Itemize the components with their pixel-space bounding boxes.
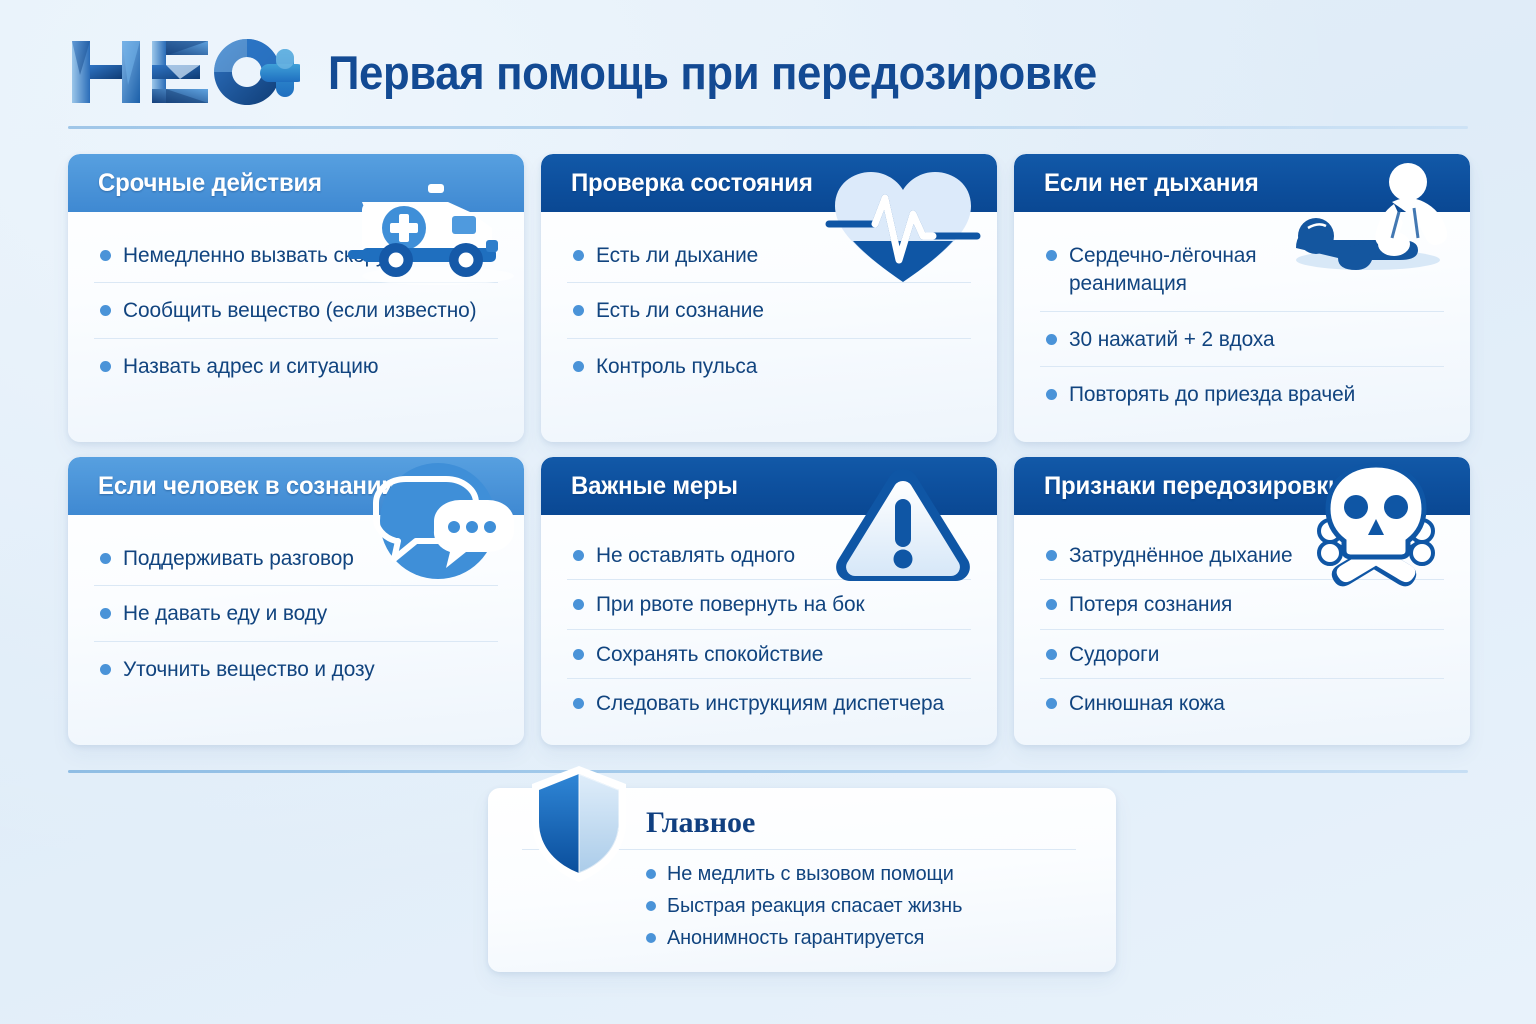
- list-item-text: Назвать адрес и ситуацию: [123, 352, 378, 380]
- bullet-dot-icon: [646, 933, 656, 943]
- list-item: Потеря сознания: [1040, 580, 1444, 629]
- list-item-text: Следовать инструкциям диспетчера: [596, 689, 944, 717]
- bullet-dot-icon: [573, 361, 584, 372]
- bullet-dot-icon: [100, 250, 111, 261]
- card-title: Проверка состояния: [571, 169, 813, 198]
- list-item: Контроль пульса: [567, 339, 971, 393]
- card-title: Важные меры: [571, 472, 738, 501]
- bullet-dot-icon: [1046, 250, 1057, 261]
- bottom-divider: [68, 770, 1468, 773]
- list-item: Не давать еду и воду: [94, 586, 498, 641]
- list-item-text: Уточнить вещество и дозу: [123, 655, 375, 683]
- card-no-breathing: Если нет дыхания: [1014, 154, 1470, 442]
- cards-grid: Срочные действия: [68, 154, 1470, 745]
- list-item: Повторять до приезда врачей: [1040, 367, 1444, 421]
- bullet-dot-icon: [1046, 649, 1057, 660]
- card-body: Не оставлять одного При рвоте повернуть …: [541, 515, 997, 738]
- bullet-dot-icon: [100, 608, 111, 619]
- card-header: Проверка состояния: [541, 154, 997, 212]
- list-item-text: Поддерживать разговор: [123, 544, 354, 572]
- list-item-text: 30 нажатий + 2 вдоха: [1069, 325, 1274, 353]
- list-item: Назвать адрес и ситуацию: [94, 339, 498, 393]
- list-item: Анонимность гарантируется: [646, 922, 1076, 954]
- card-header: Если нет дыхания: [1014, 154, 1470, 212]
- list-item: Затруднённое дыхание: [1040, 531, 1444, 580]
- bullet-dot-icon: [646, 901, 656, 911]
- list-item: Сохранять спокойствие: [567, 630, 971, 679]
- list-item-text: Судороги: [1069, 640, 1159, 668]
- list-item: 30 нажатий + 2 вдоха: [1040, 312, 1444, 367]
- list-item-text: Потеря сознания: [1069, 590, 1232, 618]
- bullet-dot-icon: [646, 869, 656, 879]
- list-item: При рвоте повернуть на бок: [567, 580, 971, 629]
- page-header: Первая помощь при передозировке: [68, 26, 1468, 118]
- summary-list: Не медлить с вызовом помощи Быстрая реак…: [638, 858, 1076, 954]
- list-item-text: Есть ли сознание: [596, 296, 764, 324]
- card-title: Признаки передозировки: [1044, 472, 1343, 501]
- list-item-text: Сообщить вещество (если известно): [123, 296, 476, 324]
- bullet-dot-icon: [100, 664, 111, 675]
- list-item: Следовать инструкциям диспетчера: [567, 679, 971, 727]
- card-title: Срочные действия: [98, 169, 322, 198]
- list-item-text: Сердечно-лёгочная реанимация: [1069, 241, 1312, 298]
- list-item-text: Есть ли дыхание: [596, 241, 758, 269]
- bullet-dot-icon: [573, 599, 584, 610]
- card-body: Сердечно-лёгочная реанимация 30 нажатий …: [1014, 212, 1470, 432]
- card-header: Если человек в сознании: [68, 457, 524, 515]
- neo-plus-logo: [68, 36, 300, 108]
- bullet-dot-icon: [1046, 599, 1057, 610]
- bullet-dot-icon: [100, 553, 111, 564]
- list-item: Быстрая реакция спасает жизнь: [646, 890, 1076, 922]
- list-item: Есть ли сознание: [567, 283, 971, 338]
- bullet-dot-icon: [1046, 698, 1057, 709]
- summary-title: Главное: [638, 806, 1076, 839]
- bullet-dot-icon: [573, 305, 584, 316]
- card-title: Если нет дыхания: [1044, 169, 1259, 198]
- shield-icon: [524, 760, 634, 888]
- bullet-dot-icon: [100, 361, 111, 372]
- summary-panel: Главное Не медлить с вызовом помощи Быст…: [488, 788, 1116, 972]
- list-item: Есть ли дыхание: [567, 228, 971, 283]
- list-item-text: Быстрая реакция спасает жизнь: [667, 894, 962, 918]
- list-item-text: Не оставлять одного: [596, 541, 795, 569]
- card-body: Затруднённое дыхание Потеря сознания Суд…: [1014, 515, 1470, 738]
- bullet-dot-icon: [573, 550, 584, 561]
- infographic-page: Первая помощь при передозировке Срочные …: [0, 0, 1536, 1024]
- card-header: Признаки передозировки: [1014, 457, 1470, 515]
- list-item: Немедленно вызвать скорую помощь: [94, 228, 498, 283]
- bullet-dot-icon: [1046, 334, 1057, 345]
- list-item: Не медлить с вызовом помощи: [646, 858, 1076, 890]
- card-body: Есть ли дыхание Есть ли сознание Контрол…: [541, 212, 997, 403]
- card-overdose-signs: Признаки передозировки: [1014, 457, 1470, 745]
- bullet-dot-icon: [100, 305, 111, 316]
- list-item-text: Сохранять спокойствие: [596, 640, 823, 668]
- list-item-text: Немедленно вызвать скорую помощь: [123, 241, 484, 269]
- list-item: Поддерживать разговор: [94, 531, 498, 586]
- card-body: Немедленно вызвать скорую помощь Сообщит…: [68, 212, 524, 403]
- card-condition-check: Проверка состояния Есть ли дыхание Есть …: [541, 154, 997, 442]
- list-item: Синюшная кожа: [1040, 679, 1444, 727]
- card-header: Срочные действия: [68, 154, 524, 212]
- list-item-text: Не медлить с вызовом помощи: [667, 862, 954, 886]
- list-item: Сердечно-лёгочная реанимация: [1040, 228, 1444, 312]
- list-item-text: Синюшная кожа: [1069, 689, 1225, 717]
- list-item-text: При рвоте повернуть на бок: [596, 590, 864, 618]
- list-item-text: Контроль пульса: [596, 352, 757, 380]
- list-item: Уточнить вещество и дозу: [94, 642, 498, 696]
- bullet-dot-icon: [573, 698, 584, 709]
- header-divider: [68, 126, 1468, 129]
- list-item-text: Анонимность гарантируется: [667, 926, 924, 950]
- page-title: Первая помощь при передозировке: [328, 45, 1097, 100]
- list-item: Сообщить вещество (если известно): [94, 283, 498, 338]
- bullet-dot-icon: [573, 250, 584, 261]
- list-item-text: Не давать еду и воду: [123, 599, 327, 627]
- list-item: Судороги: [1040, 630, 1444, 679]
- bullet-dot-icon: [1046, 389, 1057, 400]
- card-urgent-actions: Срочные действия: [68, 154, 524, 442]
- card-body: Поддерживать разговор Не давать еду и во…: [68, 515, 524, 706]
- bullet-dot-icon: [573, 649, 584, 660]
- bullet-dot-icon: [1046, 550, 1057, 561]
- list-item: Не оставлять одного: [567, 531, 971, 580]
- card-title: Если человек в сознании: [98, 472, 396, 501]
- list-item-text: Затруднённое дыхание: [1069, 541, 1292, 569]
- card-conscious-person: Если человек в сознании Поддерживать раз…: [68, 457, 524, 745]
- card-header: Важные меры: [541, 457, 997, 515]
- card-important-measures: Важные меры Не ос: [541, 457, 997, 745]
- list-item-text: Повторять до приезда врачей: [1069, 380, 1355, 408]
